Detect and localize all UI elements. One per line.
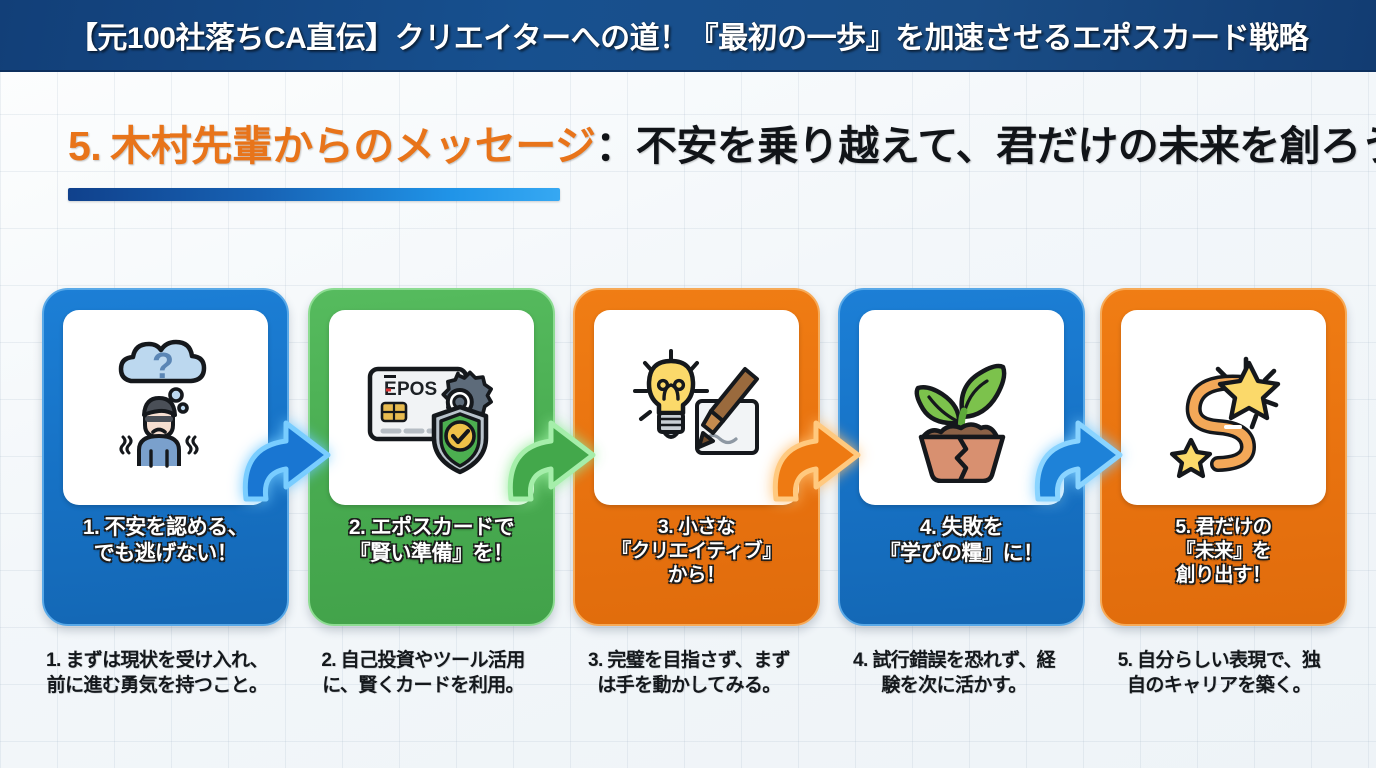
svg-text:POS: POS: [397, 379, 437, 400]
steps-row: ?: [0, 288, 1376, 628]
step-4-caption: 4. 試行錯誤を恐れず、経 験を次に活かす。: [823, 648, 1085, 699]
title-orange-part: 木村先輩からのメッセージ: [110, 123, 595, 169]
page-title: 5.木村先輩からのメッセージ：不安を乗り越えて、君だけの未来を創ろう！: [68, 126, 1338, 167]
header-band: 【元100社落ちCA直伝】クリエイターへの道！『最初の一歩』を加速させるエポスカ…: [0, 0, 1376, 72]
step-1-label: 1. 不安を認める、 でも逃げない！: [50, 515, 282, 567]
anxious-person-question-cloud-icon: ?: [91, 333, 241, 483]
step-card-4[interactable]: 4. 失敗を 『学びの糧』に！: [838, 288, 1085, 626]
step-1-caption: 1. まずは現状を受け入れ、 前に進む勇気を持つこと。: [26, 648, 288, 699]
step-5-label: 5. 君だけの 『未来』を 創り出す！: [1108, 515, 1340, 588]
title-separator: ：: [595, 123, 636, 169]
step-3-icon-panel: [594, 310, 799, 505]
step-2-caption: 2. 自己投資やツール活用 に、賢くカードを利用。: [292, 648, 554, 699]
svg-text:?: ?: [152, 345, 174, 386]
epos-credit-card-gear-shield-icon: E POS: [356, 333, 508, 483]
sprout-cracked-pot-icon: [887, 333, 1037, 483]
step-5-icon-panel: [1121, 310, 1326, 505]
step-card-1[interactable]: ?: [42, 288, 289, 626]
step-2-icon-panel: E POS: [329, 310, 534, 505]
step-3-caption: 3. 完璧を目指さず、まず は手を動かしてみる。: [558, 648, 820, 699]
lightbulb-paintbrush-icon: [621, 333, 773, 483]
slide-canvas: 【元100社落ちCA直伝】クリエイターへの道！『最初の一歩』を加速させるエポスカ…: [0, 0, 1376, 768]
step-2-label: 2. エポスカードで 『賢い準備』を！: [316, 515, 548, 567]
step-1-icon-panel: ?: [63, 310, 268, 505]
step-5-caption: 5. 自分らしい表現で、独 自のキャリアを築く。: [1088, 648, 1350, 699]
slide-title-block: 5.木村先輩からのメッセージ：不安を乗り越えて、君だけの未来を創ろう！: [68, 126, 1338, 167]
step-3-label: 3. 小さな 『クリエイティブ』 から！: [581, 515, 813, 588]
title-black-part: 不安を乗り越えて、君だけの未来を創ろう！: [636, 123, 1376, 169]
captions-row: 1. まずは現状を受け入れ、 前に進む勇気を持つこと。 2. 自己投資やツール活…: [0, 648, 1376, 723]
step-card-5[interactable]: 5. 君だけの 『未来』を 創り出す！: [1100, 288, 1347, 626]
header-title: 【元100社落ちCA直伝】クリエイターへの道！『最初の一歩』を加速させるエポスカ…: [68, 13, 1308, 57]
step-card-2[interactable]: E POS: [308, 288, 555, 626]
step-4-label: 4. 失敗を 『学びの糧』に！: [846, 515, 1078, 567]
winding-path-stars-icon: [1148, 333, 1300, 483]
title-number: 5.: [68, 123, 101, 169]
title-underline-bar: [68, 188, 560, 201]
step-4-icon-panel: [859, 310, 1064, 505]
step-card-3[interactable]: 3. 小さな 『クリエイティブ』 から！: [573, 288, 820, 626]
